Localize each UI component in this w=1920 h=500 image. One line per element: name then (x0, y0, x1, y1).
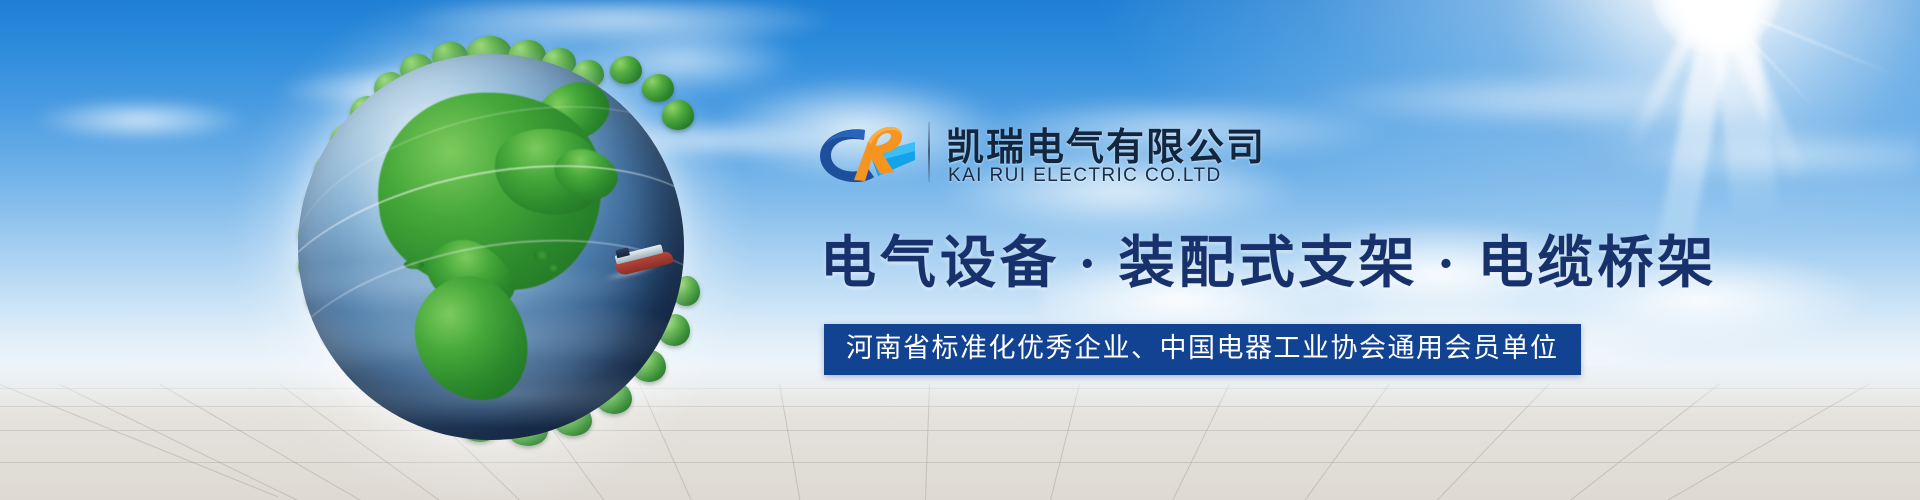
hero-banner: 凯瑞电气有限公司 KAI RUI ELECTRIC CO.LTD 电气设备 · … (0, 0, 1920, 500)
credential-ribbon: 河南省标准化优秀企业、中国电器工业协会通用会员单位 (824, 324, 1581, 375)
slogan-text: 电气设备 · 装配式支架 · 电缆桥架 (820, 218, 1717, 299)
cr-monogram-logo[interactable] (818, 120, 922, 186)
brand-name-cn: 凯瑞电气有限公司 (946, 116, 1266, 171)
banner-content: 凯瑞电气有限公司 KAI RUI ELECTRIC CO.LTD 电气设备 · … (818, 110, 1518, 196)
credential-ribbon-text: 河南省标准化优秀企业、中国电器工业协会通用会员单位 (846, 335, 1559, 362)
globe-sphere (298, 54, 684, 440)
green-earth-globe (280, 38, 700, 458)
brand-lockup: 凯瑞电气有限公司 KAI RUI ELECTRIC CO.LTD (818, 110, 1518, 196)
brand-divider (928, 122, 930, 182)
brand-name-en: KAI RUI ELECTRIC CO.LTD (948, 165, 1222, 187)
